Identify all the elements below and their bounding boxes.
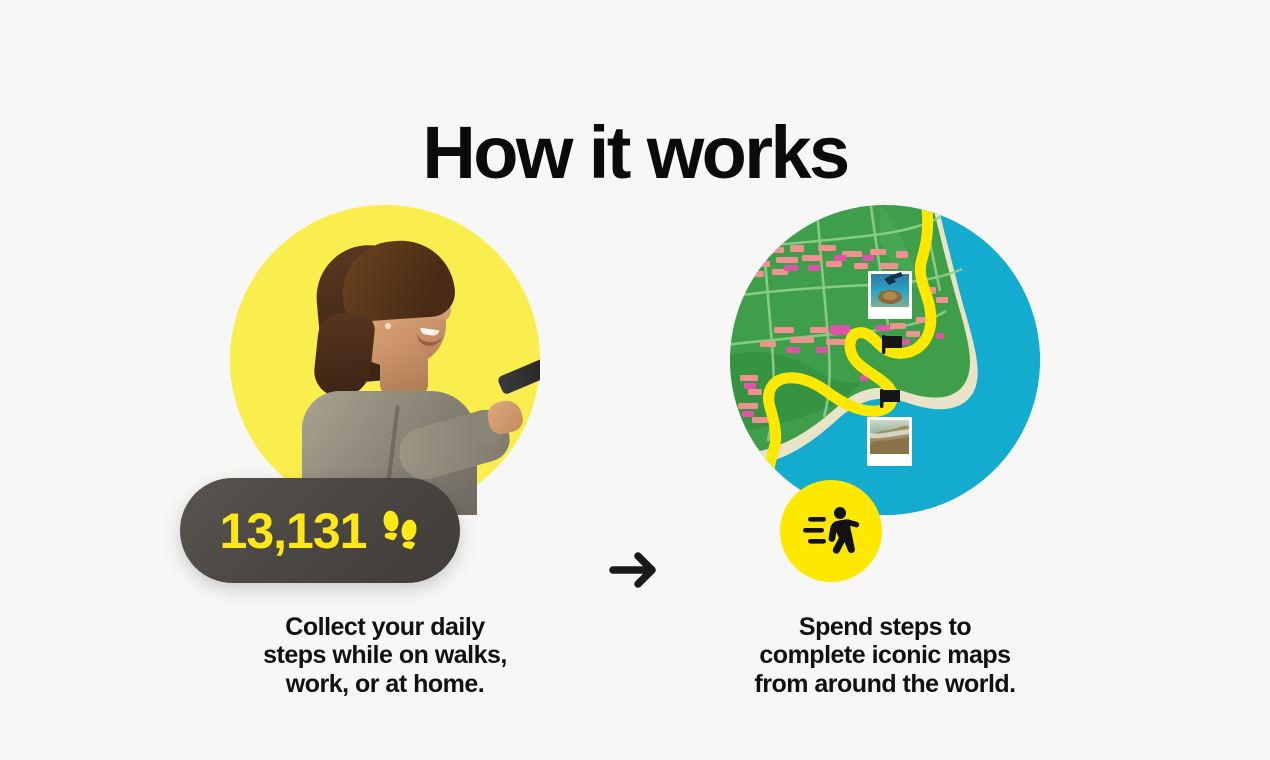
polaroid-card <box>867 417 912 466</box>
caption-line: Spend steps to <box>675 613 1095 641</box>
caption-line: Collect your daily <box>175 613 595 641</box>
step-spend-steps: Spend steps to complete iconic maps from… <box>675 205 1095 590</box>
step-count-pill: 13,131 <box>180 478 460 583</box>
map-circle <box>730 205 1040 515</box>
step-count-value: 13,131 <box>220 506 367 556</box>
step-1-caption: Collect your daily steps while on walks,… <box>175 613 595 698</box>
caption-line: complete iconic maps <box>675 641 1095 669</box>
page-title: How it works <box>0 116 1270 190</box>
phone-device <box>497 354 540 396</box>
caption-line: from around the world. <box>675 670 1095 698</box>
caption-line: steps while on walks, <box>175 641 595 669</box>
walking-person-icon <box>800 500 862 562</box>
step-collect-steps: 13,131 Collect your daily steps while on… <box>175 205 595 590</box>
walking-badge <box>780 480 882 582</box>
footprints-icon <box>380 508 420 554</box>
steps-container: 13,131 Collect your daily steps while on… <box>0 205 1270 705</box>
step-2-caption: Spend steps to complete iconic maps from… <box>675 613 1095 698</box>
person-photo <box>230 205 540 515</box>
polaroid-card <box>868 271 912 319</box>
map-illustration <box>730 205 1040 515</box>
caption-line: work, or at home. <box>175 670 595 698</box>
how-it-works-page: How it works <box>0 0 1270 760</box>
step-2-visual <box>675 205 1095 590</box>
arrow-right-icon <box>607 547 663 593</box>
earring <box>385 323 391 329</box>
step-1-visual: 13,131 <box>175 205 595 590</box>
